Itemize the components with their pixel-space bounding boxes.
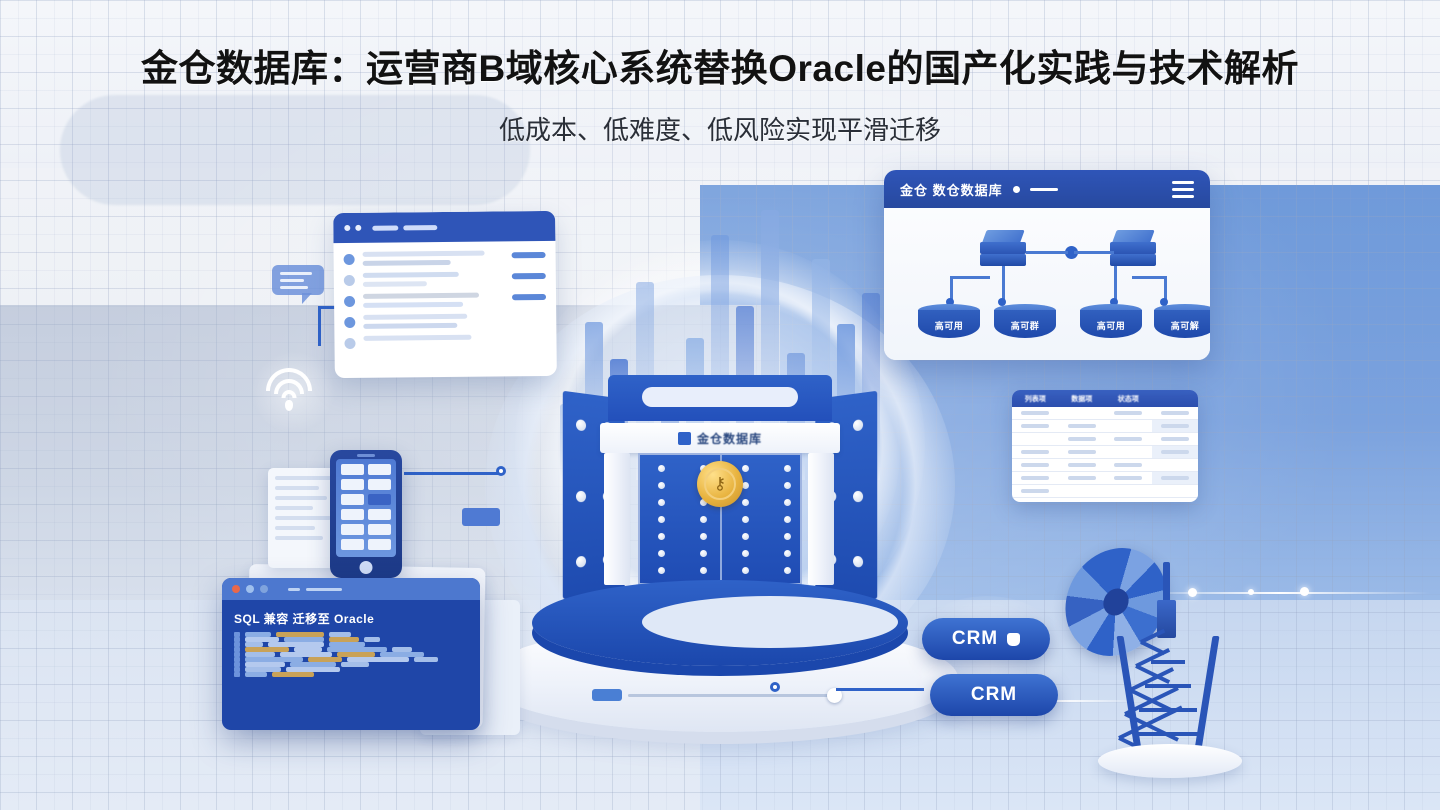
- vault-column-left: [604, 453, 630, 585]
- vault-rivet: [576, 491, 586, 502]
- placeholder-line: [363, 251, 485, 257]
- database-cylinder-label: 高可解: [1154, 319, 1210, 332]
- phone-app-tile[interactable]: [341, 479, 364, 490]
- architecture-diagram-card[interactable]: 金仓 数仓数据库 高: [884, 170, 1210, 360]
- list-item[interactable]: [344, 271, 546, 287]
- vault-rivet: [853, 491, 863, 502]
- vault-roof: [608, 375, 832, 421]
- table-cell: [1105, 459, 1152, 471]
- list-item[interactable]: [344, 292, 546, 308]
- truss-crossbar: [1133, 732, 1203, 736]
- placeholder-line: [363, 314, 467, 320]
- placeholder-line: [363, 260, 451, 266]
- list-item-lines: [363, 334, 546, 341]
- phone-app-tile[interactable]: [368, 524, 391, 535]
- arch-wire-1: [1026, 251, 1068, 254]
- table-cell: [1059, 459, 1106, 471]
- vault-door-rivet: [784, 516, 791, 523]
- cell-placeholder: [1021, 411, 1049, 415]
- cell-placeholder: [1161, 411, 1189, 415]
- page-subtitle: 低成本、低难度、低风险实现平滑迁移: [0, 110, 1440, 147]
- close-icon[interactable]: [232, 585, 240, 593]
- phone-app-tile[interactable]: [341, 524, 364, 535]
- header-dot-indicator: [1013, 186, 1020, 193]
- phone-app-tile[interactable]: [368, 539, 391, 550]
- truss-crossbar: [1151, 660, 1185, 664]
- page-title: 金仓数据库：运营商B域核心系统替换Oracle的国产化实践与技术解析: [0, 38, 1440, 92]
- cell-placeholder: [1068, 450, 1096, 454]
- smartphone-icon[interactable]: [330, 450, 402, 578]
- table-row[interactable]: [1012, 433, 1198, 446]
- architecture-diagram-body: 高可用高可群高可用高可解: [884, 208, 1210, 360]
- vault-door-rivet: [658, 499, 665, 506]
- podium-ring-hole: [642, 596, 898, 648]
- phone-home-button[interactable]: [360, 561, 373, 574]
- table-cell: [1059, 472, 1106, 484]
- cell-placeholder: [1068, 476, 1096, 480]
- list-window-card[interactable]: [333, 211, 557, 378]
- cell-placeholder: [1068, 424, 1096, 428]
- vault-door-rivet: [742, 465, 749, 472]
- vault-rivet: [576, 556, 586, 568]
- vault-door-rivet: [742, 550, 749, 557]
- cell-placeholder: [1114, 476, 1142, 480]
- vault-rivet: [576, 419, 586, 431]
- podium: [482, 580, 958, 730]
- connector-line-2: [318, 306, 321, 346]
- arch-wire-8: [1132, 276, 1166, 279]
- titlebar-chip-2: [306, 588, 342, 591]
- gold-lock-icon: ⚷: [697, 461, 743, 507]
- list-item-lines: [363, 313, 546, 329]
- cell-placeholder: [1161, 476, 1189, 480]
- list-item-bullet: [344, 275, 355, 286]
- maximize-icon[interactable]: [260, 585, 268, 593]
- vault-door-rivet: [784, 499, 791, 506]
- cell-placeholder: [1021, 450, 1049, 454]
- table-cell: [1105, 472, 1152, 484]
- table-cell: [1012, 420, 1059, 432]
- list-item-bullet: [344, 296, 355, 307]
- vault-sign-text: 金仓数据库: [697, 430, 762, 447]
- table-column-header: [1152, 390, 1199, 407]
- title-block: 金仓数据库：运营商B域核心系统替换Oracle的国产化实践与技术解析 低成本、低…: [0, 38, 1440, 147]
- vault-door-rivet: [658, 567, 665, 574]
- arch-wire-6: [1114, 266, 1117, 302]
- header-line-indicator: [1030, 188, 1058, 191]
- placeholder-line: [363, 281, 427, 287]
- podium-slider[interactable]: [592, 688, 842, 702]
- cell-placeholder: [1068, 463, 1096, 467]
- table-cell: [1152, 433, 1199, 445]
- table-cell: [1105, 433, 1152, 445]
- list-item-lines: [363, 271, 504, 286]
- table-row[interactable]: [1012, 485, 1198, 498]
- vault-door-rivet: [742, 567, 749, 574]
- list-item[interactable]: [344, 250, 546, 266]
- database-cylinder-label: 高可用: [918, 319, 980, 332]
- vault-door-rivet: [784, 482, 791, 489]
- table-header-row: 列表项数据项状态项: [1012, 390, 1198, 407]
- document-line: [275, 506, 313, 510]
- brand-logo-icon: [678, 432, 691, 445]
- vault-door-rivet: [658, 550, 665, 557]
- document-line: [275, 496, 327, 500]
- signal-dot-3: [1300, 587, 1309, 596]
- code-line: [234, 672, 468, 677]
- list-item-badge: [512, 294, 546, 300]
- table-cell: [1012, 446, 1059, 458]
- arch-wire-2: [1074, 251, 1114, 254]
- cell-placeholder: [1021, 476, 1049, 480]
- vault-door-rivet: [658, 465, 665, 472]
- table-cell: [1059, 485, 1106, 497]
- arch-wire-5: [1002, 266, 1005, 302]
- tower-truss: [1118, 636, 1218, 756]
- code-first-line: SQL 兼容 迁移至 Oracle: [234, 610, 468, 627]
- document-line: [275, 536, 323, 540]
- vault-door-rivet: [700, 567, 707, 574]
- slide-canvas: 金仓数据库：运营商B域核心系统替换Oracle的国产化实践与技术解析 低成本、低…: [0, 0, 1440, 810]
- window-dot-1[interactable]: [344, 225, 350, 231]
- list-item-bullet: [344, 317, 355, 328]
- list-item-bullet: [344, 254, 355, 265]
- list-window-body: [333, 241, 556, 358]
- placeholder-line: [363, 293, 479, 299]
- table-row[interactable]: [1012, 472, 1198, 485]
- code-token: [272, 672, 314, 677]
- arch-wire-4: [950, 276, 990, 279]
- user-icon: [1007, 633, 1020, 646]
- code-token: [414, 657, 438, 662]
- vault-door-rivet: [784, 533, 791, 540]
- table-cell: [1059, 446, 1106, 458]
- data-table-card[interactable]: 列表项数据项状态项: [1012, 390, 1198, 502]
- slider-track[interactable]: [628, 694, 842, 697]
- table-cell: [1105, 407, 1152, 419]
- table-cell: [1152, 407, 1199, 419]
- phone-app-tile[interactable]: [341, 494, 364, 505]
- floating-chip-1: [462, 508, 500, 526]
- connector-node-2: [770, 682, 780, 692]
- table-cell: [1152, 459, 1199, 471]
- connector-node-1: [496, 466, 506, 476]
- architecture-card-title: 金仓 数仓数据库: [900, 180, 1003, 199]
- tower-base-platform: [1098, 744, 1242, 778]
- table-column-header: 数据项: [1059, 390, 1106, 407]
- table-column-header: 列表项: [1012, 390, 1059, 407]
- titlebar-placeholder-1: [372, 225, 398, 230]
- crm-badge-2[interactable]: CRM: [930, 674, 1058, 716]
- vault-door-rivet: [742, 516, 749, 523]
- vault-door-rivet: [784, 567, 791, 574]
- crm-badge-1[interactable]: CRM: [922, 618, 1050, 660]
- list-window-titlebar: [333, 211, 555, 243]
- list-item-badge: [512, 252, 546, 258]
- code-editor-body[interactable]: SQL 兼容 迁移至 Oracle: [222, 600, 480, 687]
- table-row[interactable]: [1012, 446, 1198, 459]
- database-cylinder[interactable]: 高可用: [918, 304, 980, 344]
- vault-column-right: [808, 453, 834, 585]
- document-line: [275, 526, 315, 530]
- cell-placeholder: [1114, 463, 1142, 467]
- document-line: [275, 486, 319, 490]
- phone-notch: [357, 454, 375, 457]
- list-item[interactable]: [344, 313, 546, 329]
- code-editor-window[interactable]: SQL 兼容 迁移至 Oracle: [222, 578, 480, 730]
- placeholder-line: [363, 335, 471, 341]
- code-token: [364, 637, 380, 642]
- lock-inner-ring: ⚷: [704, 468, 736, 500]
- crm-badge-1-label: CRM: [952, 628, 998, 650]
- table-cell: [1152, 420, 1199, 432]
- cell-placeholder: [1021, 424, 1049, 428]
- server-node-left: [980, 230, 1026, 268]
- code-line-number: [234, 672, 240, 677]
- vault-rivet: [853, 556, 863, 568]
- code-token: [341, 662, 369, 667]
- table-cell: [1152, 446, 1199, 458]
- table-cell: [1059, 407, 1106, 419]
- table-body: [1012, 407, 1198, 498]
- window-dot-2[interactable]: [355, 225, 361, 231]
- vault-door-rivet: [742, 482, 749, 489]
- phone-app-tile[interactable]: [368, 509, 391, 520]
- table-cell: [1152, 485, 1199, 497]
- document-line: [275, 516, 331, 520]
- connector-line-3: [404, 472, 504, 475]
- placeholder-line: [363, 302, 463, 308]
- vault-door-rivet: [742, 533, 749, 540]
- table-cell: [1105, 420, 1152, 432]
- list-item-bullet: [344, 338, 355, 349]
- phone-screen[interactable]: [336, 459, 396, 557]
- cell-placeholder: [1021, 463, 1049, 467]
- phone-app-tile[interactable]: [368, 479, 391, 490]
- table-cell: [1012, 459, 1059, 471]
- table-column-header: 状态项: [1105, 390, 1152, 407]
- podium-ring: [532, 580, 908, 666]
- table-cell: [1012, 485, 1059, 497]
- table-cell: [1012, 472, 1059, 484]
- cell-placeholder: [1161, 424, 1189, 428]
- phone-app-tile[interactable]: [341, 464, 364, 475]
- server-node-right: [1110, 230, 1156, 268]
- list-item[interactable]: [344, 334, 546, 349]
- placeholder-line: [363, 272, 459, 278]
- phone-app-tile[interactable]: [368, 494, 391, 505]
- slider-chip: [592, 689, 622, 701]
- architecture-card-header: 金仓 数仓数据库: [884, 170, 1210, 208]
- vault-rivet: [853, 419, 863, 431]
- phone-app-tile[interactable]: [368, 464, 391, 475]
- database-cylinder[interactable]: 高可群: [994, 304, 1056, 344]
- table-row[interactable]: [1012, 420, 1198, 433]
- cell-placeholder: [1161, 437, 1189, 441]
- database-cylinder[interactable]: 高可解: [1154, 304, 1210, 344]
- list-item-lines: [363, 292, 504, 307]
- table-cell: [1105, 485, 1152, 497]
- titlebar-chip-1: [288, 588, 300, 591]
- vault-door-rivet: [658, 516, 665, 523]
- vault-door-rivet: [700, 516, 707, 523]
- truss-crossbar: [1145, 684, 1191, 688]
- cell-placeholder: [1114, 437, 1142, 441]
- table-cell: [1059, 433, 1106, 445]
- vault-door-rivet: [784, 465, 791, 472]
- chat-bubble-icon: [272, 265, 324, 305]
- placeholder-line: [363, 323, 457, 329]
- minimize-icon[interactable]: [246, 585, 254, 593]
- table-cell: [1012, 407, 1059, 419]
- wifi-icon: [262, 368, 316, 412]
- database-cylinder-label: 高可群: [994, 319, 1056, 332]
- cell-placeholder: [1068, 437, 1096, 441]
- vault-door-rivet: [700, 550, 707, 557]
- crm-badge-2-label: CRM: [971, 684, 1017, 706]
- phone-app-tile[interactable]: [341, 539, 364, 550]
- table-row[interactable]: [1012, 459, 1198, 472]
- vault-door-rivet: [658, 533, 665, 540]
- table-cell: [1105, 446, 1152, 458]
- vault-sign: 金仓数据库: [600, 423, 840, 453]
- vault-door-rivet: [784, 550, 791, 557]
- telecom-tower-icon: [1060, 548, 1270, 778]
- list-item-badge: [512, 273, 546, 279]
- database-cylinder[interactable]: 高可用: [1080, 304, 1142, 344]
- table-cell: [1059, 420, 1106, 432]
- table-cell: [1012, 433, 1059, 445]
- cell-placeholder: [1021, 489, 1049, 493]
- document-line: [275, 476, 333, 480]
- cell-placeholder: [1161, 450, 1189, 454]
- phone-app-tile[interactable]: [341, 509, 364, 520]
- vault-door-rivet: [700, 533, 707, 540]
- vault-door-rivet: [742, 499, 749, 506]
- table-row[interactable]: [1012, 407, 1198, 420]
- titlebar-placeholder-2: [403, 225, 437, 230]
- list-item-lines: [363, 250, 504, 265]
- table-cell: [1152, 472, 1199, 484]
- cell-placeholder: [1114, 411, 1142, 415]
- vault-door-rivet: [658, 482, 665, 489]
- code-token: [245, 672, 267, 677]
- hamburger-menu-icon[interactable]: [1172, 181, 1194, 198]
- database-cylinder-label: 高可用: [1080, 319, 1142, 332]
- code-editor-titlebar: [222, 578, 480, 600]
